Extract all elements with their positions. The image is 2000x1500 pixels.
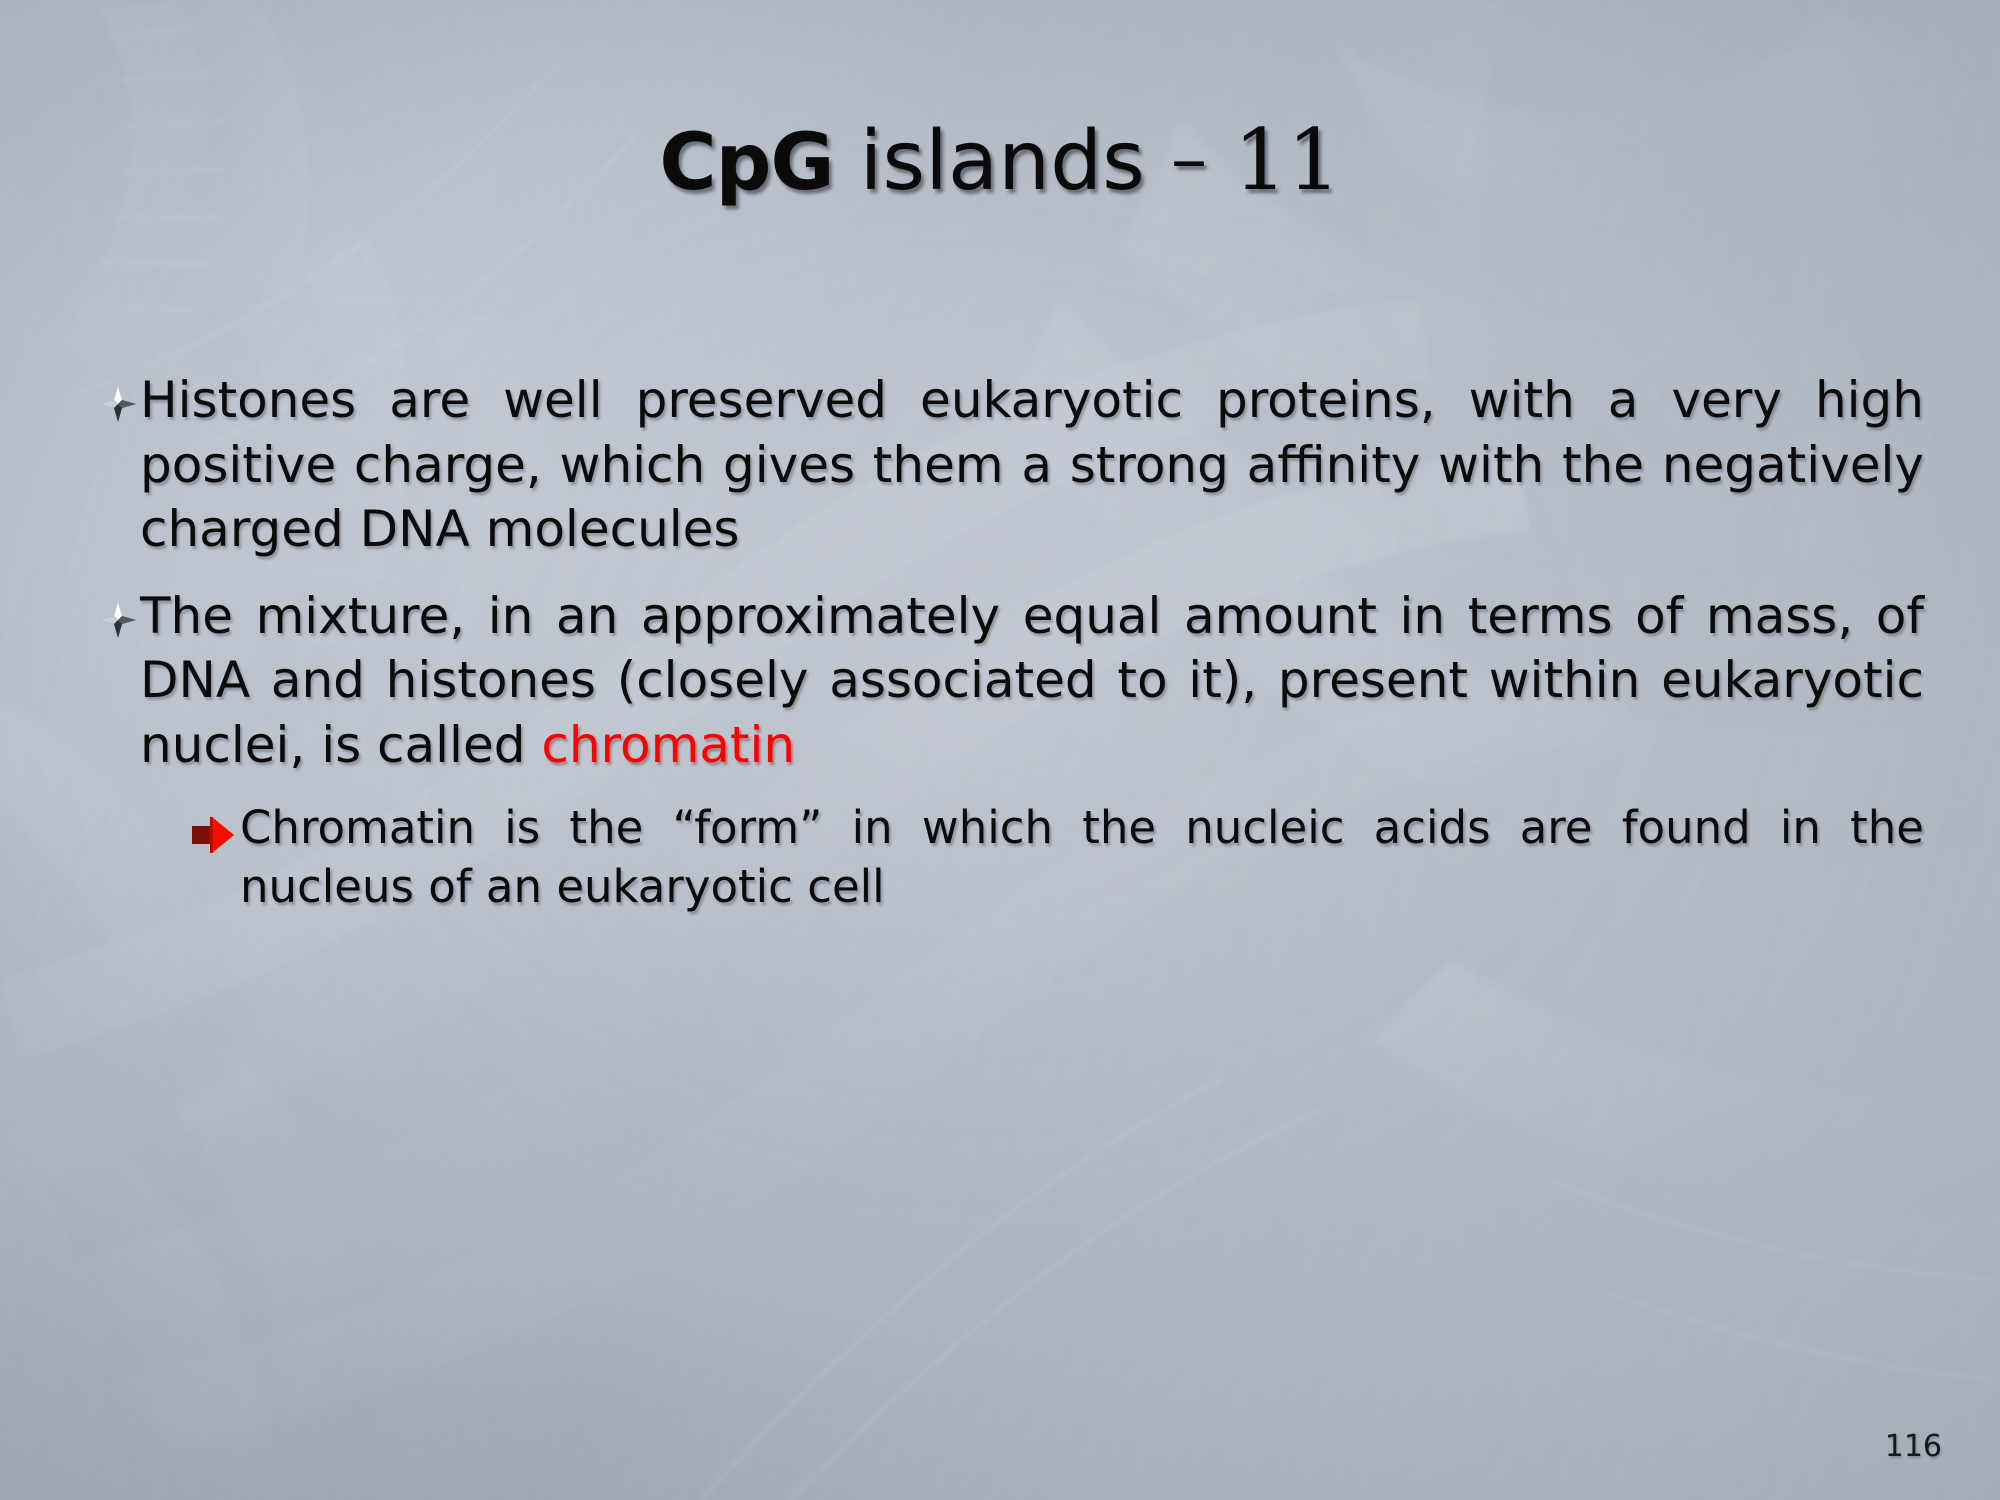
title-part-cpg: CpG bbox=[659, 118, 833, 208]
title-slide-number: 11 bbox=[1234, 111, 1341, 209]
slide-title: CpG islands – 11 bbox=[0, 118, 2000, 203]
page-number: 116 bbox=[1885, 1429, 1942, 1464]
star-bullet-icon bbox=[96, 598, 140, 642]
bullet-text-mixture-lead: The mixture, in an approximately equal a… bbox=[140, 587, 1924, 774]
star-bullet-icon bbox=[96, 382, 140, 426]
highlight-term-chromatin: chromatin bbox=[541, 716, 795, 774]
red-arrow-bullet-icon bbox=[188, 813, 240, 857]
bullet-text-histones: Histones are well preserved eukaryotic p… bbox=[140, 368, 1924, 562]
bullet-item-mixture: The mixture, in an approximately equal a… bbox=[96, 584, 1924, 778]
bullet-item-histones: Histones are well preserved eukaryotic p… bbox=[96, 368, 1924, 562]
title-spacer-3 bbox=[1207, 111, 1234, 209]
title-spacer-1 bbox=[834, 114, 860, 209]
title-spacer-2 bbox=[1145, 114, 1171, 209]
sub-bullet-text-chromatin-definition: Chromatin is the “form” in which the nuc… bbox=[240, 799, 1924, 916]
sub-bullet-item-chromatin-definition: Chromatin is the “form” in which the nuc… bbox=[188, 799, 1924, 916]
bullet-text-mixture: The mixture, in an approximately equal a… bbox=[140, 584, 1924, 778]
slide-body: Histones are well preserved eukaryotic p… bbox=[96, 368, 1924, 938]
title-part-islands: islands bbox=[860, 114, 1145, 209]
title-dash: – bbox=[1171, 116, 1207, 200]
presentation-slide: CpG islands – 11 Histones are well prese… bbox=[0, 0, 2000, 1500]
